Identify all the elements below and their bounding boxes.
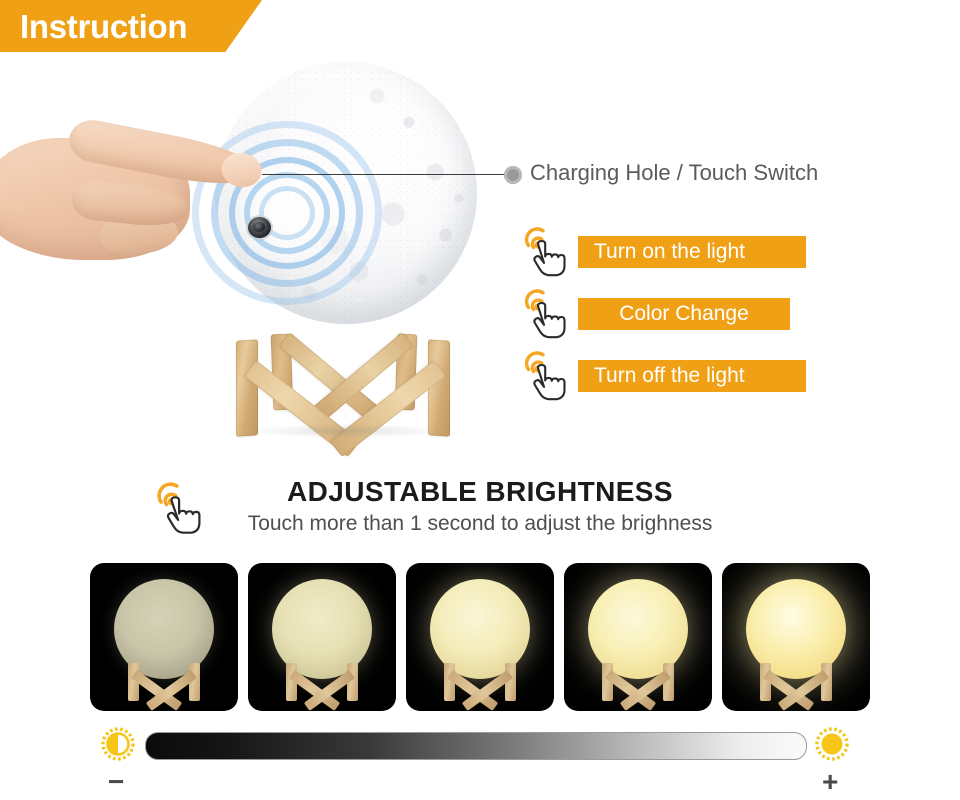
action-button-color-change[interactable]: Color Change <box>578 298 790 330</box>
thumbnail-stand <box>284 661 360 701</box>
thumbnail-stand <box>442 661 518 701</box>
stand-slat-right <box>428 339 450 437</box>
full-sun-icon[interactable] <box>812 724 852 764</box>
brightness-level-thumbnails <box>90 563 870 711</box>
wooden-stand <box>232 300 462 430</box>
callout-marker-dot <box>504 166 522 184</box>
brightness-slider-track[interactable] <box>145 732 807 760</box>
thumbnail-stand <box>600 661 676 701</box>
action-button-turn-on[interactable]: Turn on the light <box>578 236 806 268</box>
brightness-thumbnail[interactable] <box>248 563 396 711</box>
thumbnail-stand <box>758 661 834 701</box>
product-hero-image <box>0 52 520 442</box>
stand-slat-left <box>236 339 258 437</box>
thumbnail-stand <box>126 661 202 701</box>
brightness-thumbnail[interactable] <box>90 563 238 711</box>
brightness-subtitle: Touch more than 1 second to adjust the b… <box>0 512 960 536</box>
fingertip <box>219 150 265 191</box>
instruction-banner-label: Instruction <box>0 10 187 43</box>
action-button-turn-off[interactable]: Turn off the light <box>578 360 806 392</box>
pointing-hand <box>0 110 270 270</box>
instruction-banner: Instruction <box>0 0 262 52</box>
brightness-thumbnail[interactable] <box>564 563 712 711</box>
brightness-thumbnail[interactable] <box>722 563 870 711</box>
tap-hand-icon <box>516 286 572 344</box>
callout-leader-line <box>262 174 512 175</box>
stand-shadow <box>250 424 444 438</box>
charging-hole-label: Charging Hole / Touch Switch <box>530 160 818 186</box>
brightness-slider-row: − + <box>0 718 960 800</box>
brightness-decrease-label[interactable]: − <box>108 768 124 796</box>
brightness-heading: ADJUSTABLE BRIGHTNESS <box>0 476 960 508</box>
tap-hand-icon <box>516 224 572 282</box>
tap-hand-icon <box>516 348 572 406</box>
half-sun-icon[interactable] <box>98 724 138 764</box>
brightness-thumbnail[interactable] <box>406 563 554 711</box>
brightness-increase-label[interactable]: + <box>822 768 838 796</box>
